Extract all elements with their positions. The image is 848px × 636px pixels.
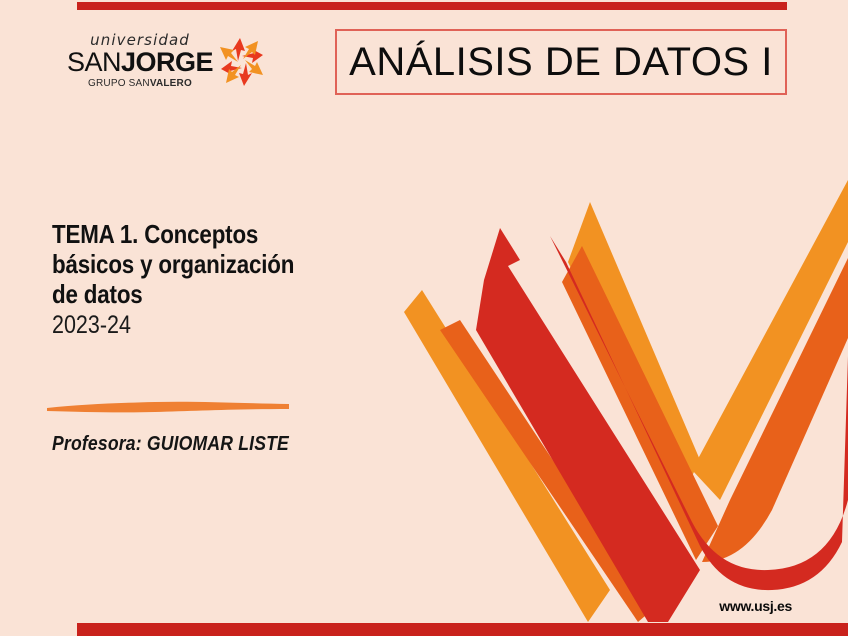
diagonal-blade-amber [404, 290, 610, 622]
topic-title-line-2: básicos y organización [52, 249, 310, 279]
logo-san-text: SAN [67, 47, 121, 77]
logo-grupo-text: GRUPO SANVALERO [66, 79, 214, 89]
chevron-amber-left [568, 202, 700, 500]
logo-wordmark: universidad SANJORGE GRUPO SANVALERO [66, 33, 214, 89]
topic-block: TEMA 1. Conceptos básicos y organización… [52, 219, 352, 340]
logo-jorge-text: JORGE [121, 47, 213, 77]
professor-name: Profesora: GUIOMAR LISTE [52, 433, 289, 456]
bottom-red-rule [77, 623, 848, 636]
brush-stroke-divider [45, 398, 291, 418]
logo-sanjorge-text: SANJORGE [66, 49, 214, 76]
chevron-red-body [550, 236, 848, 590]
course-title: ANÁLISIS DE DATOS I [349, 40, 773, 85]
chevron-red-notch [596, 470, 650, 562]
academic-year: 2023-24 [52, 311, 310, 340]
chevron-orange-right [702, 258, 848, 562]
topic-title-line-3: de datos [52, 279, 310, 309]
chevron-amber-right [692, 180, 848, 500]
chevron-orange-left [562, 246, 718, 560]
course-title-box: ANÁLISIS DE DATOS I [335, 29, 787, 95]
star-burst-icon [216, 35, 268, 89]
top-red-rule [77, 2, 787, 10]
website-url: www.usj.es [719, 598, 792, 614]
logo-valero-text: VALERO [150, 78, 192, 89]
topic-title-line-1: TEMA 1. Conceptos [52, 219, 310, 249]
decorative-chevron-artwork [400, 170, 848, 622]
presentation-slide: universidad SANJORGE GRUPO SANVALERO ANÁ… [0, 0, 848, 636]
logo-grupo-san-text: GRUPO SAN [88, 78, 150, 89]
diagonal-blade-red [476, 228, 700, 622]
diagonal-blade-orange [440, 320, 652, 622]
logo-universidad-text: universidad [66, 33, 214, 48]
usj-logo: universidad SANJORGE GRUPO SANVALERO [66, 33, 262, 95]
